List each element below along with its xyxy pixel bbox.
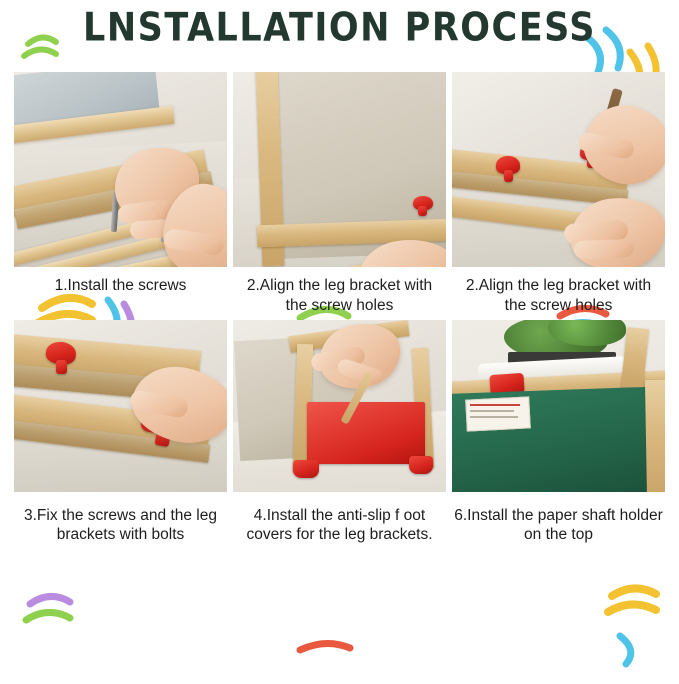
page-title-container: Lnstallation Process bbox=[0, 8, 679, 48]
step-3-photo bbox=[452, 72, 665, 267]
step-6-caption: 6.Install the paper shaft holder on the … bbox=[452, 506, 665, 546]
step-1-caption: 1.Install the screws bbox=[14, 276, 227, 296]
step-2-caption: 2.Align the leg bracket with the screw h… bbox=[233, 276, 446, 316]
step-6-photo bbox=[452, 320, 665, 492]
page-title: Lnstallation Process bbox=[83, 6, 596, 51]
step-4-caption: 3.Fix the screws and the leg brackets wi… bbox=[14, 506, 227, 546]
step-3-caption: 2.Align the leg bracket with the screw h… bbox=[452, 276, 665, 316]
step-4-photo bbox=[14, 320, 227, 492]
step-5-caption: 4.Install the anti-slip f oot covers for… bbox=[233, 506, 446, 546]
step-5-photo bbox=[233, 320, 446, 492]
step-card-3: 2.Align the leg bracket with the screw h… bbox=[452, 72, 665, 316]
step-card-5: 4.Install the anti-slip f oot covers for… bbox=[233, 320, 446, 546]
step-card-2: 2.Align the leg bracket with the screw h… bbox=[233, 72, 446, 316]
step-card-4: 3.Fix the screws and the leg brackets wi… bbox=[14, 320, 227, 546]
installation-steps-grid: 1.Install the screws 2.Align the leg bra… bbox=[14, 72, 665, 545]
step-card-1: 1.Install the screws bbox=[14, 72, 227, 316]
step-card-6: 6.Install the paper shaft holder on the … bbox=[452, 320, 665, 546]
step-1-photo bbox=[14, 72, 227, 267]
step-2-photo bbox=[233, 72, 446, 267]
